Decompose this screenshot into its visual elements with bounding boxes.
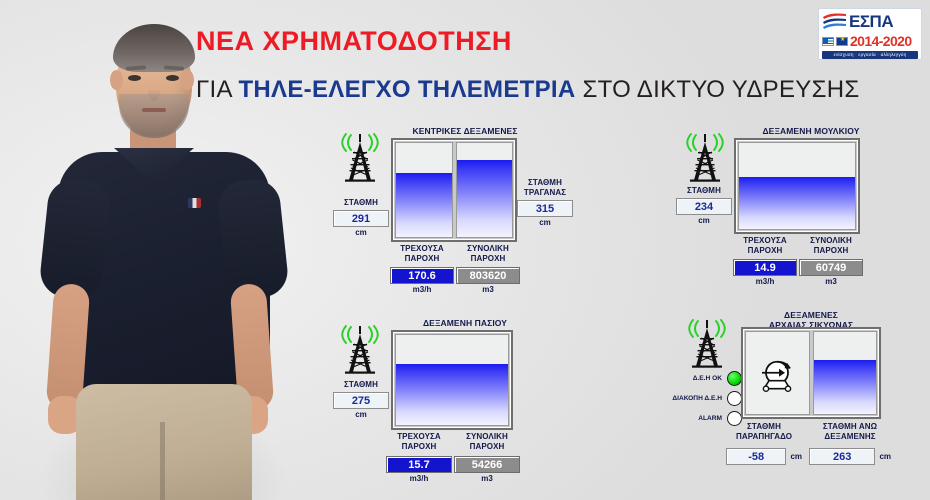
tank-frame (741, 327, 881, 419)
panel-title: ΔΕΞΑΜΕΝΗ ΠΑΣΙΟΥ (390, 318, 540, 328)
tank-1[interactable] (395, 142, 453, 238)
espa-logo-top: ΕΣΠΑ (822, 11, 918, 33)
espa-flags (822, 37, 850, 46)
left-gauge-label: ΣΤΑΘΜΗ (333, 380, 389, 390)
tank-frame (391, 138, 517, 242)
left-gauge-unit: cm (333, 227, 389, 238)
tank-1-pump-chamber[interactable] (745, 331, 810, 415)
readout-unit: cm (879, 451, 891, 462)
radio-tower-icon (337, 132, 383, 184)
readout-total-flow: ΣΥΝΟΛΙΚΗ ΠΑΡΟΧΗ 803620 m3 (456, 244, 520, 295)
status-lamp-dei-interrupt[interactable]: ΔΙΑΚΟΠΗ Δ.Ε.Η (650, 388, 742, 408)
subheadline-highlight: ΤΗΛΕ-ΕΛΕΓΧΟ ΤΗΛΕΜΕΤΡΙΑ (238, 76, 575, 103)
panel-dexameni-moulkiou: ΔΕΞΑΜΕΝΗ ΜΟΥΛΚΙΟΥ ΣΤΑΘΜΗ 234 cm ΤΡΕΧΟΥΣΑ… (676, 126, 916, 296)
photo-eye-left (128, 75, 141, 81)
readout-unit: m3/h (386, 473, 452, 484)
photo-ear-left (110, 70, 123, 90)
readout-label: ΣΤΑΘΜΗ ΑΝΩ ΔΕΞΑΜΕΝΗΣ (809, 422, 891, 442)
readout-label: ΤΡΕΧΟΥΣΑ ΠΑΡΟΧΗ (733, 236, 797, 256)
subheadline-post: ΣΤΟ ΔΙΚΤΥΟ ΥΔΡΕΥΣΗΣ (576, 76, 860, 103)
tank-frame (391, 330, 513, 430)
panel-kentrikes-dexamenes: ΚΕΝΤΡΙΚΕΣ ΔΕΞΑΜΕΝΕΣ ΣΤΑΘΜΗ 291 cm (333, 126, 573, 296)
tank-1-water-level (396, 173, 452, 237)
panel-title: ΔΕΞΑΜΕΝΗ ΜΟΥΛΚΙΟΥ (736, 126, 886, 136)
readout-total-flow: ΣΥΝΟΛΙΚΗ ΠΑΡΟΧΗ 60749 m3 (799, 236, 863, 287)
panel-title-line1: ΔΕΞΑΜΕΝΕΣ (726, 310, 896, 320)
espa-logo-mid: 2014-2020 (822, 33, 918, 50)
tank-2[interactable] (456, 142, 514, 238)
readout-unit: m3 (799, 276, 863, 287)
readout-value[interactable]: 170.6 (390, 267, 454, 284)
radio-tower-icon (337, 324, 383, 376)
radio-tower-icon (682, 132, 728, 184)
left-gauge: ΣΤΑΘΜΗ 234 cm (676, 186, 732, 226)
tank-frame (734, 138, 860, 234)
left-gauge: ΣΤΑΘΜΗ 275 cm (333, 380, 389, 420)
tank-2-water-level (457, 160, 513, 237)
panel-dexamenes-archaias-sikyonas: ΔΕΞΑΜΕΝΕΣ ΑΡΧΑΙΑΣ ΣΙΚΥΩΝΑΣ Δ.Ε.Η OK ΔΙΑΚ… (676, 310, 921, 496)
lamp-label: ΔΙΑΚΟΠΗ Δ.Ε.Η (672, 395, 722, 402)
readout-current-flow: ΤΡΕΧΟΥΣΑ ΠΑΡΟΧΗ 170.6 m3/h (390, 244, 454, 295)
readout-unit: m3 (456, 284, 520, 295)
readout-label: ΤΡΕΧΟΥΣΑ ΠΑΡΟΧΗ (390, 244, 454, 264)
left-gauge-value[interactable]: 275 (333, 392, 389, 409)
left-gauge-value[interactable]: 234 (676, 198, 732, 215)
readout-current-flow: ΤΡΕΧΟΥΣΑ ΠΑΡΟΧΗ 15.7 m3/h (386, 432, 452, 484)
greece-flag-icon (822, 37, 834, 46)
pump-icon[interactable] (756, 359, 798, 393)
status-lamp-dei-ok[interactable]: Δ.Ε.Η OK (650, 368, 742, 388)
readout-unit: m3/h (733, 276, 797, 287)
right-gauge-label: ΣΤΑΘΜΗ ΤΡΑΓΑΝΑΣ (517, 178, 573, 198)
readout-unit: cm (790, 451, 802, 462)
lamp-label: Δ.Ε.Η OK (693, 375, 722, 382)
readout-current-flow: ΤΡΕΧΟΥΣΑ ΠΑΡΟΧΗ 14.9 m3/h (733, 236, 797, 287)
photo-polo-logo (188, 198, 201, 208)
tank-1[interactable] (738, 142, 856, 230)
readout-value[interactable]: 15.7 (386, 456, 452, 473)
espa-tagline: ενίσχυση · εργασία · αλληλεγγύη (822, 51, 918, 59)
readout-value[interactable]: 60749 (799, 259, 863, 276)
readout-value[interactable]: 263 (809, 448, 875, 465)
readout-value[interactable]: -58 (726, 448, 786, 465)
page-subheadline: ΓΙΑ ΤΗΛΕ-ΕΛΕΓΧΟ ΤΗΛΕΜΕΤΡΙΑ ΣΤΟ ΔΙΚΤΥΟ ΥΔ… (196, 76, 860, 104)
page-headline: ΝΕΑ ΧΡΗΜΑΤΟΔΟΤΗΣΗ (196, 26, 512, 57)
espa-years: 2014-2020 (850, 34, 912, 49)
tank-1[interactable] (395, 334, 509, 426)
photo-ear-right (181, 70, 194, 90)
readout-value[interactable]: 803620 (456, 267, 520, 284)
lamp-indicator-icon (727, 371, 742, 386)
radio-tower-icon (684, 318, 730, 370)
photo-hair (113, 24, 195, 72)
subheadline-pre: ΓΙΑ (196, 76, 238, 103)
photo-eye-right (166, 75, 179, 81)
left-gauge-unit: cm (333, 409, 389, 420)
lamp-indicator-icon (727, 391, 742, 406)
espa-wordmark: ΕΣΠΑ (849, 12, 893, 32)
tank-1-water-level (739, 177, 855, 229)
readout-unit: m3 (454, 473, 520, 484)
panel-title: ΚΕΝΤΡΙΚΕΣ ΔΕΞΑΜΕΝΕΣ (390, 126, 540, 136)
readout-level-upper-tank: ΣΤΑΘΜΗ ΑΝΩ ΔΕΞΑΜΕΝΗΣ 263 cm (809, 422, 891, 465)
left-gauge-value[interactable]: 291 (333, 210, 389, 227)
photo-trousers-seam (160, 422, 165, 500)
photo-sleeve-right (216, 177, 290, 301)
photo-mouth (142, 108, 166, 112)
readout-unit: m3/h (390, 284, 454, 295)
readout-label: ΣΥΝΟΛΙΚΗ ΠΑΡΟΧΗ (456, 244, 520, 264)
readout-label: ΣΤΑΘΜΗ ΠΑΡΑΠΗΓΑΔΟ (726, 422, 802, 442)
espa-logo: ΕΣΠΑ 2014-2020 ενίσχυση · εργασία · αλλη… (818, 8, 922, 60)
readout-value[interactable]: 54266 (454, 456, 520, 473)
panel-dexameni-passiou: ΔΕΞΑΜΕΝΗ ΠΑΣΙΟΥ ΣΤΑΘΜΗ 275 cm ΤΡΕΧΟΥΣΑ Π… (333, 318, 573, 493)
left-gauge: ΣΤΑΘΜΗ 291 cm (333, 198, 389, 238)
right-gauge-unit: cm (517, 217, 573, 228)
left-gauge-unit: cm (676, 215, 732, 226)
readout-value[interactable]: 14.9 (733, 259, 797, 276)
left-gauge-label: ΣΤΑΘΜΗ (676, 186, 732, 196)
lamp-label: ALARM (698, 415, 722, 422)
readout-label: ΣΥΝΟΛΙΚΗ ΠΑΡΟΧΗ (799, 236, 863, 256)
eu-flag-icon (836, 37, 848, 46)
readout-total-flow: ΣΥΝΟΛΙΚΗ ΠΑΡΟΧΗ 54266 m3 (454, 432, 520, 484)
tank-2-water-level (814, 360, 877, 414)
readout-level-parapigado: ΣΤΑΘΜΗ ΠΑΡΑΠΗΓΑΔΟ -58 cm (726, 422, 802, 465)
espa-swoosh-icon (822, 12, 848, 32)
right-gauge: ΣΤΑΘΜΗ ΤΡΑΓΑΝΑΣ 315 cm (517, 178, 573, 228)
tank-2[interactable] (813, 331, 878, 415)
readout-label: ΣΥΝΟΛΙΚΗ ΠΑΡΟΧΗ (454, 432, 520, 452)
left-gauge-label: ΣΤΑΘΜΗ (333, 198, 389, 208)
status-lamp-list: Δ.Ε.Η OK ΔΙΑΚΟΠΗ Δ.Ε.Η ALARM (650, 368, 742, 428)
right-gauge-value[interactable]: 315 (517, 200, 573, 217)
readout-label: ΤΡΕΧΟΥΣΑ ΠΑΡΟΧΗ (386, 432, 452, 452)
tank-1-water-level (396, 364, 508, 425)
